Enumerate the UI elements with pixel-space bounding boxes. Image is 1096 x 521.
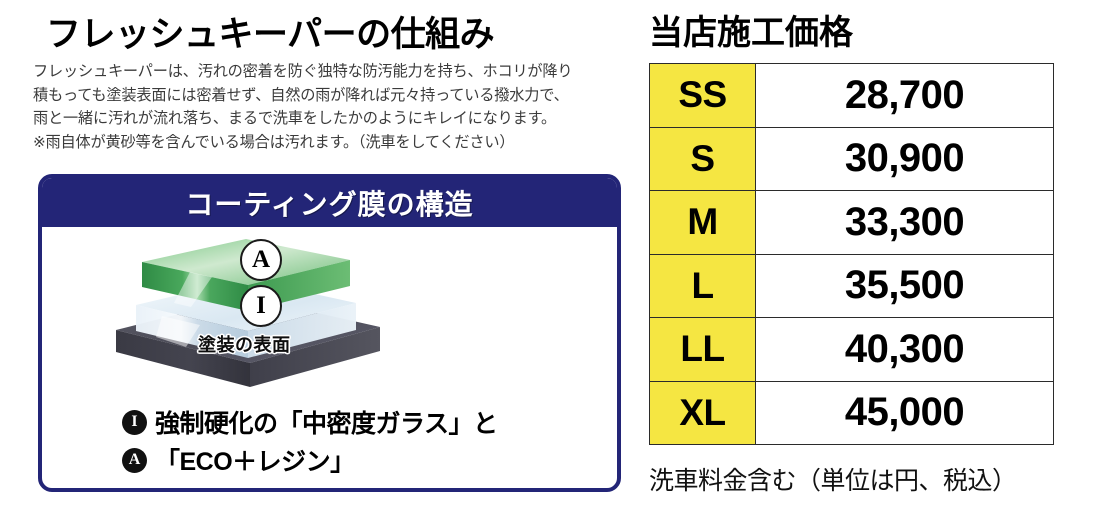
- pricing-section: 当店施工価格 SS 28,700 S 30,900 M 33,300 L 35,…: [645, 0, 1096, 521]
- pricing-note: 洗車料金含む（単位は円、税込）: [649, 461, 1017, 497]
- size-cell: M: [650, 191, 756, 255]
- size-cell: L: [650, 254, 756, 318]
- price-cell: 35,500: [756, 254, 1054, 318]
- price-cell: 28,700: [756, 64, 1054, 128]
- table-row: S 30,900: [650, 127, 1054, 191]
- coating-structure-card-body: A I 塗装の表面 I 強制硬化の「中密度ガラス」と A 「ECO＋レジン」: [42, 227, 617, 488]
- price-cell: 40,300: [756, 318, 1054, 382]
- table-row: LL 40,300: [650, 318, 1054, 382]
- intro-line: フレッシュキーパーは、汚れの密着を防ぐ独特な防汚能力を持ち、ホコリが降り: [33, 60, 633, 84]
- legend-label-i: 強制硬化の「中密度ガラス」と: [155, 404, 498, 440]
- size-cell: S: [650, 127, 756, 191]
- intro-line: ※雨自体が黄砂等を含んでいる場合は汚れます。（洗車をしてください）: [33, 131, 633, 155]
- intro-paragraph: フレッシュキーパーは、汚れの密着を防ぐ独特な防汚能力を持ち、ホコリが降り 積もっ…: [33, 60, 633, 154]
- table-row: XL 45,000: [650, 381, 1054, 445]
- promo-panel: フレッシュキーパーの仕組み フレッシュキーパーは、汚れの密着を防ぐ独特な防汚能力…: [0, 0, 1096, 521]
- table-row: SS 28,700: [650, 64, 1054, 128]
- table-row: M 33,300: [650, 191, 1054, 255]
- legend-label-a: 「ECO＋レジン」: [155, 442, 355, 478]
- legend-badge-i-icon: I: [122, 410, 147, 435]
- base-layer-label: 塗装の表面: [198, 331, 291, 357]
- pricing-heading: 当店施工価格: [649, 5, 853, 54]
- coating-layer-diagram-svg: [50, 227, 400, 395]
- size-cell: XL: [650, 381, 756, 445]
- coating-structure-title: コーティング膜の構造: [185, 183, 473, 223]
- intro-line: 積もっても塗装表面には密着せず、自然の雨が降れば元々持っている撥水力で、: [33, 84, 633, 108]
- legend-item-a: A 「ECO＋レジン」: [122, 441, 602, 479]
- coating-layer-diagram: A I 塗装の表面: [50, 227, 400, 395]
- size-cell: LL: [650, 318, 756, 382]
- legend-badge-a-icon: A: [122, 448, 147, 473]
- layer-marker-i: I: [240, 285, 282, 327]
- pricing-table: SS 28,700 S 30,900 M 33,300 L 35,500 LL: [649, 63, 1054, 445]
- price-cell: 45,000: [756, 381, 1054, 445]
- price-cell: 33,300: [756, 191, 1054, 255]
- intro-line: 雨と一緒に汚れが流れ落ち、まるで洗車をしたかのようにキレイになります。: [33, 107, 633, 131]
- price-cell: 30,900: [756, 127, 1054, 191]
- table-row: L 35,500: [650, 254, 1054, 318]
- page-title: フレッシュキーパーの仕組み: [46, 6, 494, 57]
- layer-marker-a: A: [240, 239, 282, 281]
- coating-structure-card-header: コーティング膜の構造: [42, 178, 617, 227]
- size-cell: SS: [650, 64, 756, 128]
- coating-structure-card: コーティング膜の構造: [38, 174, 621, 492]
- mechanism-section: フレッシュキーパーの仕組み フレッシュキーパーは、汚れの密着を防ぐ独特な防汚能力…: [0, 0, 640, 521]
- legend-item-i: I 強制硬化の「中密度ガラス」と: [122, 403, 602, 441]
- coating-legend: I 強制硬化の「中密度ガラス」と A 「ECO＋レジン」: [122, 403, 602, 479]
